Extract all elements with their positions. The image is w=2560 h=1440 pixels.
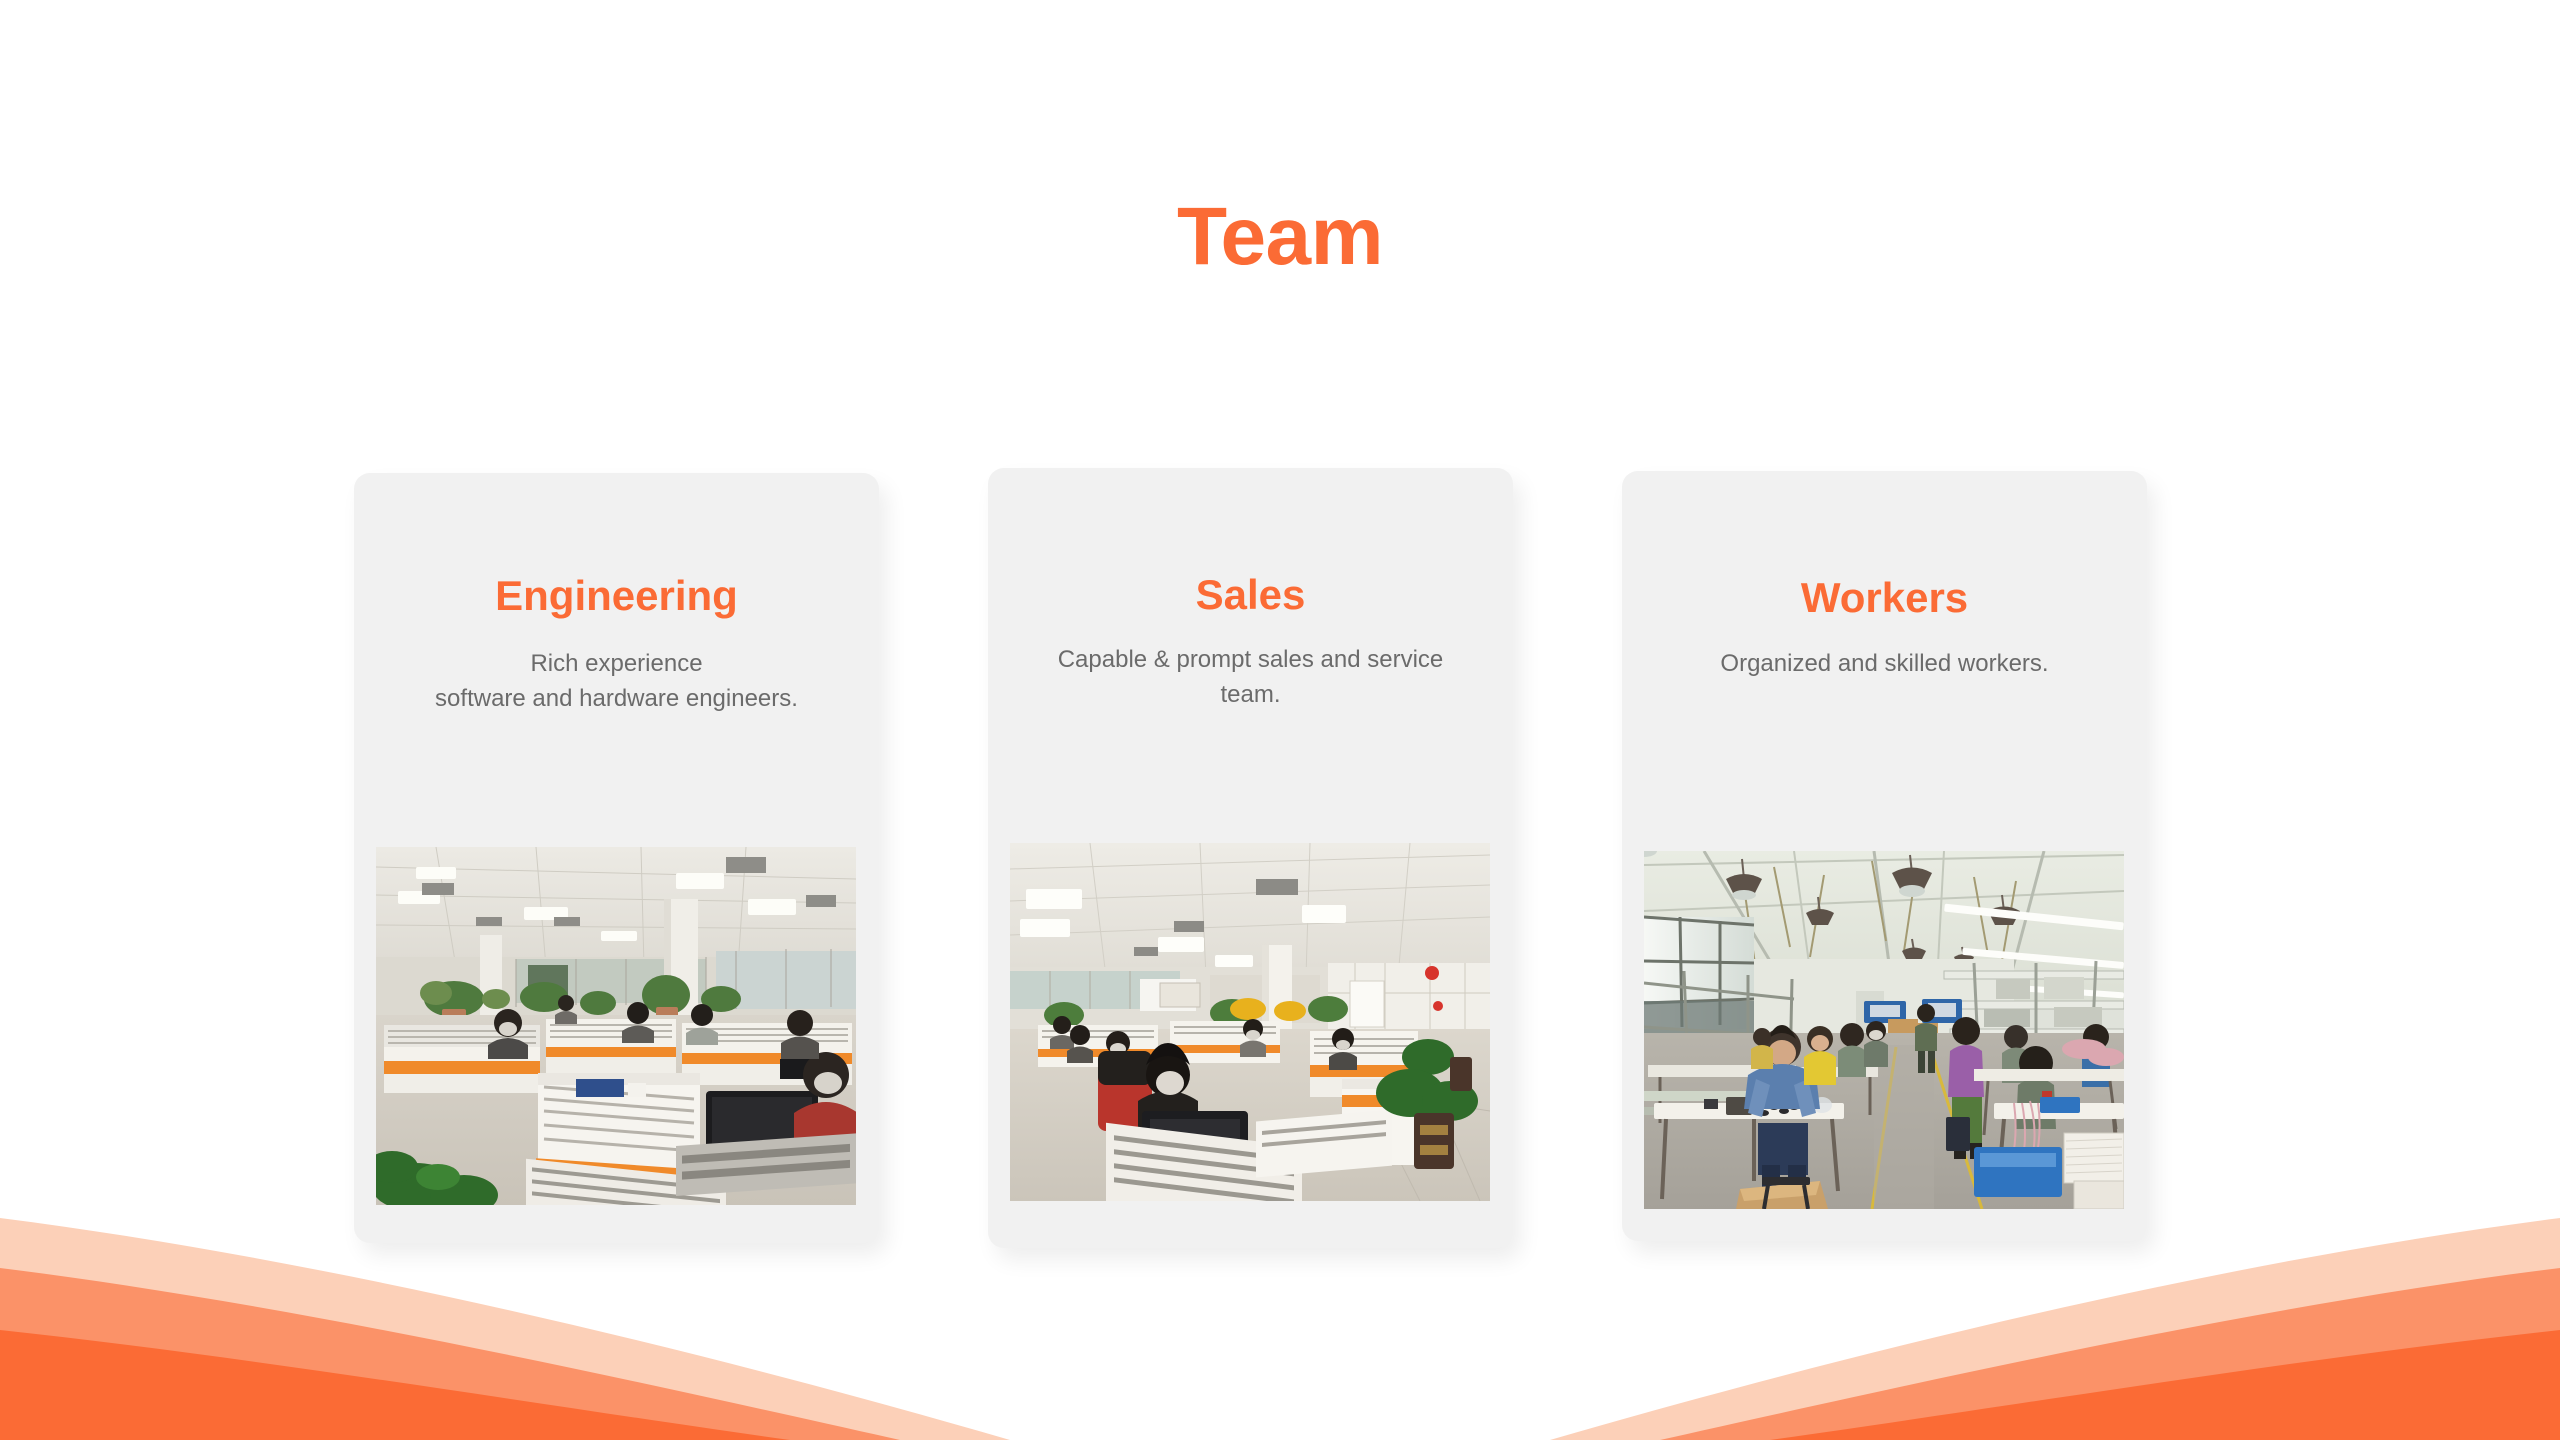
wave-arc-bottom-left-solid — [0, 1330, 790, 1440]
card-description-line-1: Capable & prompt sales and service — [1018, 643, 1483, 678]
team-cards-row: Engineering Rich experience software and… — [0, 468, 2560, 1258]
card-title-sales: Sales — [988, 572, 1513, 618]
team-card-sales[interactable]: Sales Capable & prompt sales and service… — [988, 468, 1513, 1248]
page-title: Team — [0, 194, 2560, 280]
office-cubicles-sales-photo — [1010, 843, 1490, 1201]
card-description-workers: Organized and skilled workers. — [1622, 647, 2147, 682]
wave-arc-bottom-right-mid — [1660, 1268, 2560, 1440]
team-card-workers[interactable]: Workers Organized and skilled workers. — [1622, 471, 2147, 1241]
card-description-sales: Capable & prompt sales and service team. — [988, 643, 1513, 713]
team-card-engineering[interactable]: Engineering Rich experience software and… — [354, 473, 879, 1243]
card-title-engineering: Engineering — [354, 573, 879, 619]
factory-floor-workers-photo — [1644, 851, 2124, 1209]
card-description-line-2: team. — [1018, 678, 1483, 713]
card-description-line-1: Organized and skilled workers. — [1652, 647, 2117, 682]
wave-arc-bottom-left-mid — [0, 1268, 900, 1440]
card-description-line-2: software and hardware engineers. — [384, 682, 849, 717]
office-cubicles-engineering-photo — [376, 847, 856, 1205]
wave-arc-bottom-right-solid — [1770, 1330, 2560, 1440]
card-description-engineering: Rich experience software and hardware en… — [354, 647, 879, 717]
team-slide: Team Engineering Rich experience softwar… — [0, 0, 2560, 1440]
card-description-line-1: Rich experience — [384, 647, 849, 682]
card-title-workers: Workers — [1622, 575, 2147, 621]
